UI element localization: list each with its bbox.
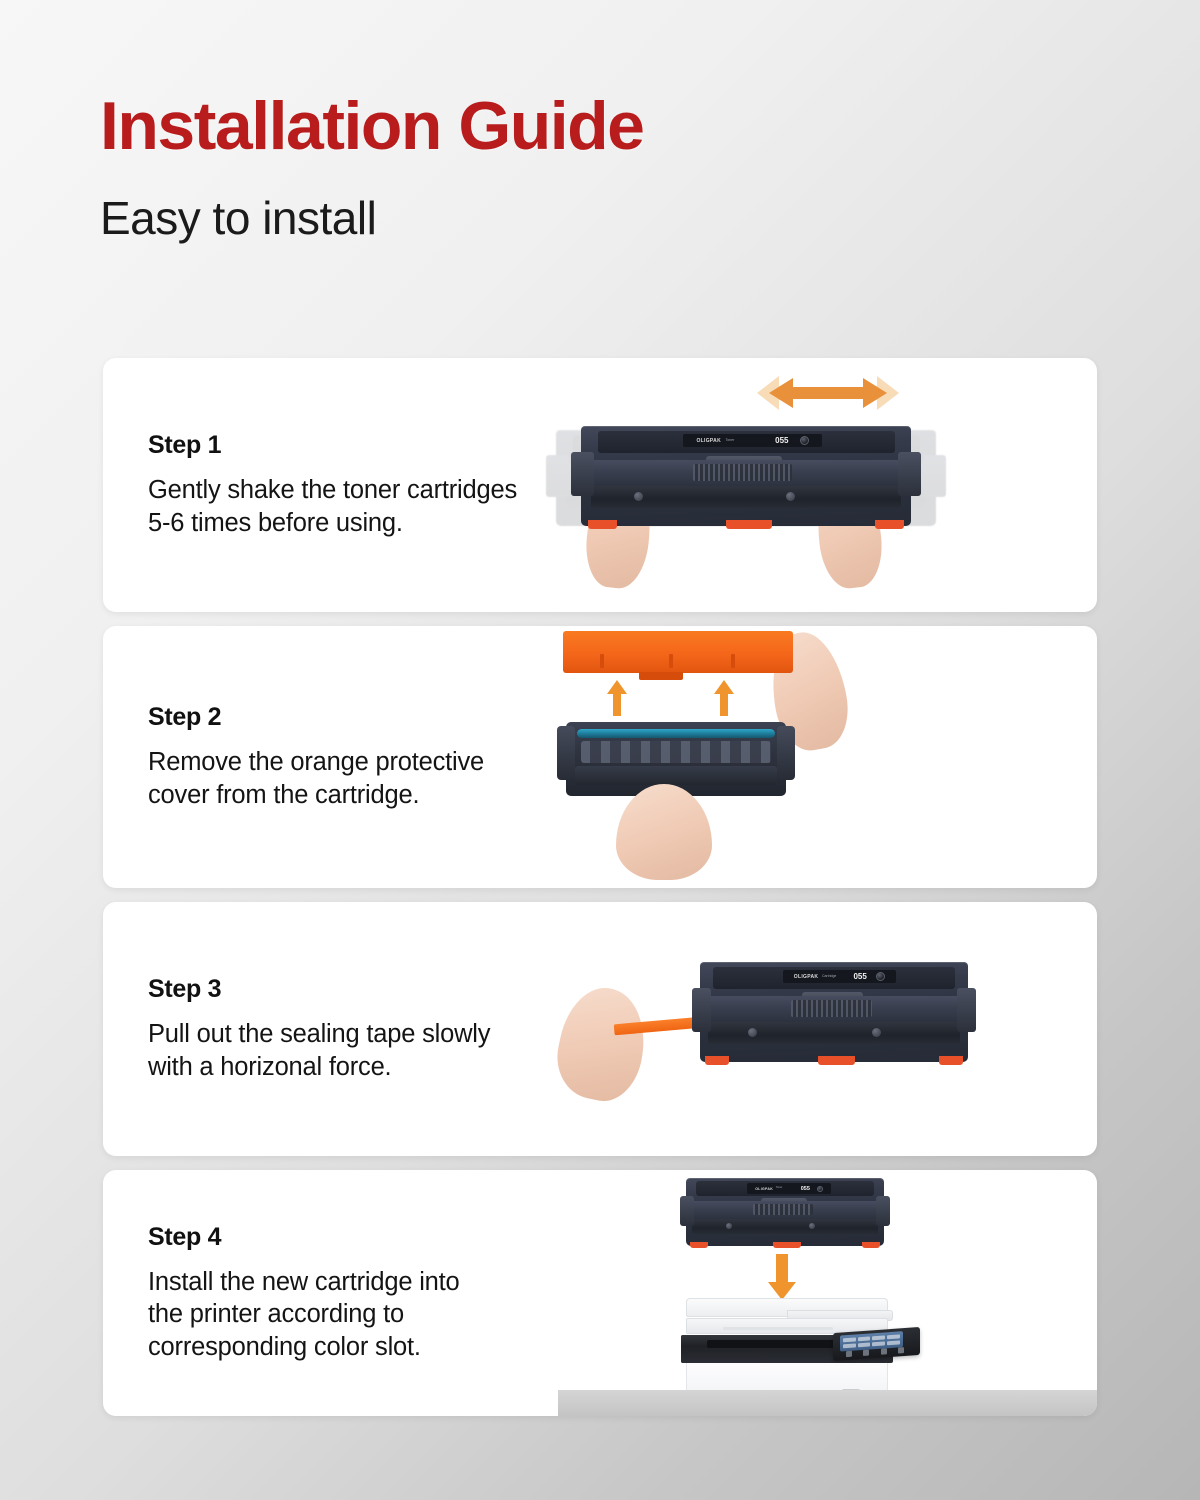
steps-list: Step 1 Gently shake the toner cartridges… (103, 358, 1097, 1430)
step-4-description: Install the new cartridge into the print… (148, 1266, 558, 1362)
cartridge-color-dot (817, 1186, 823, 1192)
photosensitive-drum (577, 729, 775, 739)
printer-control-panel[interactable] (833, 1327, 920, 1361)
pulling-hand (549, 980, 654, 1107)
cartridge-color-dot (876, 972, 885, 981)
shake-double-arrow-icon (755, 372, 901, 419)
cartridge-color-dot (800, 436, 809, 445)
step-2-description: Remove the orange protective cover from … (148, 746, 558, 810)
cartridge-kind: Cartridge (822, 975, 836, 979)
step-card-4: Step 4 Install the new cartridge into th… (103, 1170, 1097, 1416)
toner-cartridge: OLIGPAK Cartridge 055 (700, 962, 968, 1062)
step-card-2: Step 2 Remove the orange protective cove… (103, 626, 1097, 888)
step-3-label: Step 3 (148, 975, 558, 1004)
step-1-text: Step 1 Gently shake the toner cartridges… (103, 431, 558, 538)
step-card-3: Step 3 Pull out the sealing tape slowly … (103, 902, 1097, 1156)
cartridge-brand: OLIGPAK (696, 438, 721, 444)
cartridge-kind: Toner (776, 1187, 783, 1190)
step-4-illustration: OLIGPAK Toner 055 (558, 1170, 1097, 1416)
cartridge-brand: OLIGPAK (794, 974, 819, 980)
step-card-1: Step 1 Gently shake the toner cartridges… (103, 358, 1097, 612)
step-3-text: Step 3 Pull out the sealing tape slowly … (103, 975, 558, 1082)
cartridge-kind: Toner (725, 439, 734, 443)
cartridge-brand: OLIGPAK (755, 1187, 773, 1191)
step-2-illustration (558, 626, 1097, 888)
step-1-label: Step 1 (148, 431, 558, 460)
cartridge-label: OLIGPAK Cartridge 055 (783, 970, 896, 983)
cartridge-model: 055 (853, 972, 866, 981)
step-2-label: Step 2 (148, 703, 558, 732)
left-hand-supporting-cartridge (616, 784, 712, 880)
page-header: Installation Guide Easy to install (100, 92, 1000, 242)
toner-cartridge-open (566, 722, 786, 796)
table-surface (558, 1390, 1097, 1416)
cartridge-model: 055 (775, 436, 788, 445)
cartridge-label: OLIGPAK Toner 055 (747, 1183, 830, 1193)
step-3-illustration: OLIGPAK Cartridge 055 (558, 902, 1097, 1156)
up-arrow-icon-right (713, 680, 735, 721)
step-1-illustration: OLIGPAK Toner 055 (558, 358, 1097, 612)
step-2-text: Step 2 Remove the orange protective cove… (103, 703, 558, 810)
toner-cartridge: OLIGPAK Toner 055 (686, 1178, 884, 1246)
step-4-label: Step 4 (148, 1223, 558, 1252)
cartridge-model: 055 (801, 1186, 810, 1192)
page-subtitle: Easy to install (100, 194, 1000, 242)
step-1-description: Gently shake the toner cartridges 5-6 ti… (148, 474, 558, 538)
cartridge-label: OLIGPAK Toner 055 (683, 434, 822, 447)
orange-protective-cover (563, 631, 793, 673)
up-arrow-icon-left (606, 680, 628, 721)
toner-cartridge: OLIGPAK Toner 055 (581, 426, 911, 526)
page-title: Installation Guide (100, 92, 1000, 160)
step-3-description: Pull out the sealing tape slowly with a … (148, 1018, 558, 1082)
step-4-text: Step 4 Install the new cartridge into th… (103, 1223, 558, 1362)
